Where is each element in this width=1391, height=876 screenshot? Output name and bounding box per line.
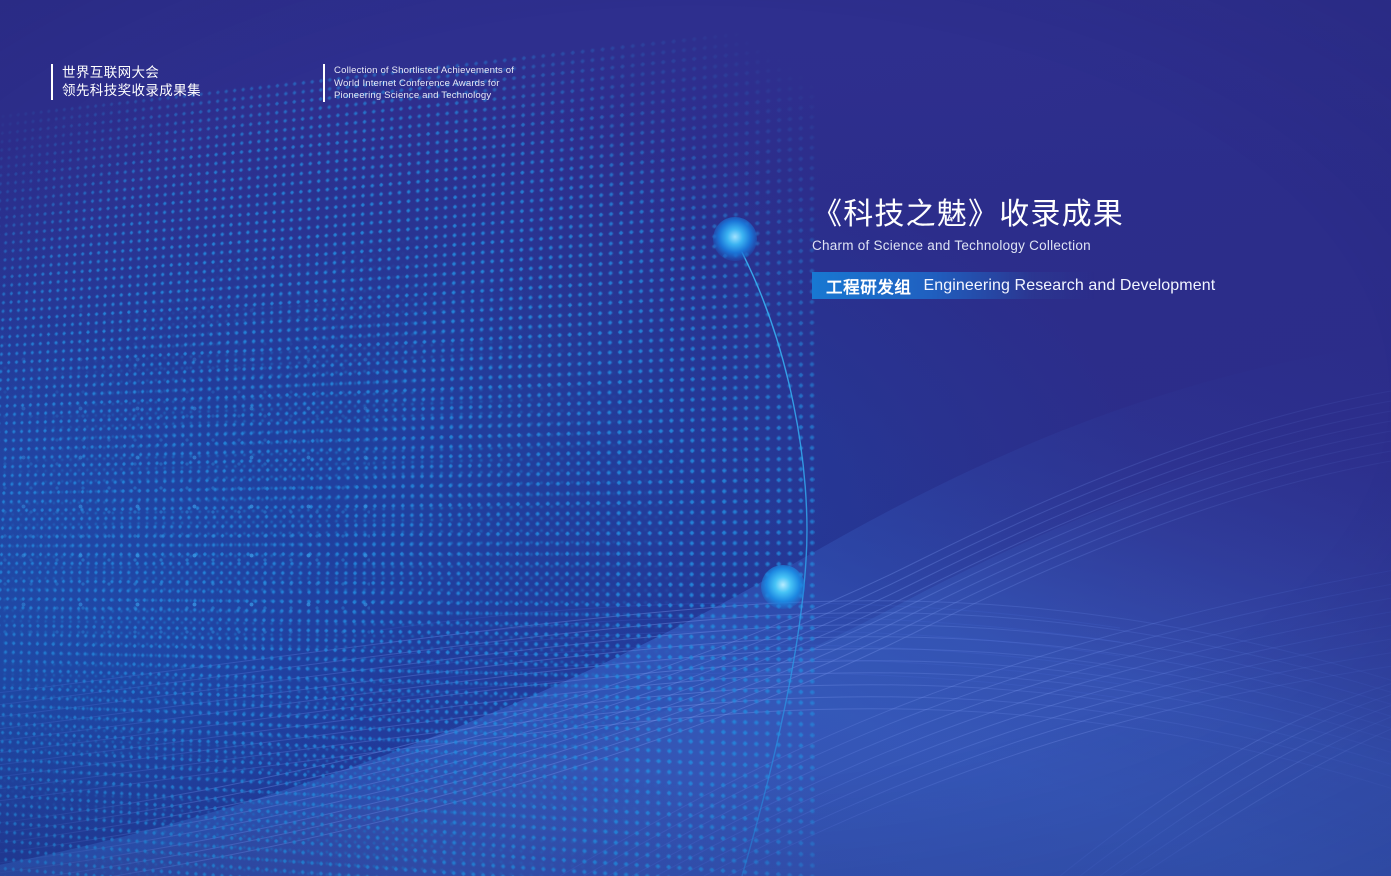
page-title: 《科技之魅》收录成果 (812, 198, 1124, 232)
page-subtitle: Charm of Science and Technology Collecti… (812, 237, 1124, 254)
globe-scatter-particles-wide (0, 90, 410, 610)
brand-header-cn-text: 世界互联网大会 领先科技奖收录成果集 (62, 64, 201, 100)
brand-en-line-3: Pioneering Science and Technology (334, 89, 514, 102)
brand-rule-cn (51, 64, 53, 100)
brand-en-line-2: World Internet Conference Awards for (334, 77, 514, 90)
brand-header-en-text: Collection of Shortlisted Achievements o… (334, 64, 514, 102)
brand-header-cn-block: 世界互联网大会 领先科技奖收录成果集 (51, 64, 201, 100)
title-lockup: 《科技之魅》收录成果 Charm of Science and Technolo… (812, 198, 1124, 299)
brand-cn-line-1: 世界互联网大会 (62, 64, 201, 82)
brand-en-line-1: Collection of Shortlisted Achievements o… (334, 64, 514, 77)
poster-canvas: 世界互联网大会 领先科技奖收录成果集 Collection of Shortli… (0, 0, 1391, 876)
brand-header: 世界互联网大会 领先科技奖收录成果集 Collection of Shortli… (51, 64, 514, 102)
category-badge-en: Engineering Research and Development (912, 277, 1216, 295)
category-badge-row: 工程研发组 Engineering Research and Developme… (812, 272, 1215, 299)
brand-header-en-block: Collection of Shortlisted Achievements o… (323, 64, 514, 102)
category-badge: 工程研发组 Engineering Research and Developme… (812, 272, 1094, 299)
brand-cn-line-2: 领先科技奖收录成果集 (62, 82, 201, 100)
category-badge-cn: 工程研发组 (812, 274, 912, 298)
dot-matrix-globe (0, 60, 790, 876)
brand-rule-en (323, 64, 325, 102)
